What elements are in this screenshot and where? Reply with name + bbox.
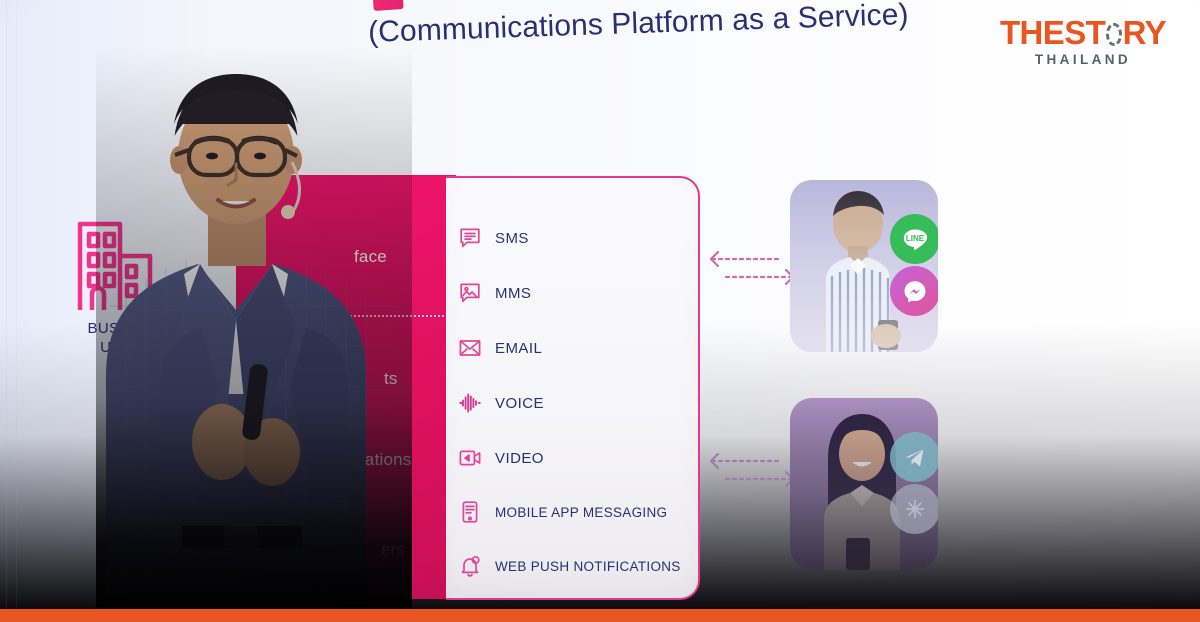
service-label: EMAIL [495,340,542,357]
service-channel-card: SMS MMS EMAIL VOICE [446,176,700,600]
service-row-mobile-app-messaging: MOBILE APP MESSAGING [458,500,667,524]
line-app-icon: LINE [890,214,938,264]
logo-text-left: THEST [1000,16,1105,49]
service-label: VOICE [495,395,544,412]
service-row-mms: MMS [458,281,531,305]
viber-app-icon [890,484,938,534]
voice-waveform-icon [458,391,482,415]
connector-top [706,242,798,294]
service-row-sms: SMS [458,226,529,250]
logo-wordmark: THEST RY [1000,16,1166,49]
web-push-bell-icon [458,554,482,578]
email-envelope-icon [458,336,482,360]
slide-title: (Communications Platform as a Service) [368,0,969,50]
messenger-app-icon [890,266,938,316]
sms-chat-icon [458,226,482,250]
service-row-web-push-notifications: WEB PUSH NOTIFICATIONS [458,554,681,578]
brand-bottom-bar [0,609,1200,622]
mobile-app-icon [458,500,482,524]
line-badge-label: LINE [906,234,925,243]
presenter-photo [96,46,412,612]
video-camera-icon [458,446,482,470]
service-row-voice: VOICE [458,391,544,415]
service-label: MMS [495,285,531,302]
service-row-video: VIDEO [458,446,544,470]
service-label: SMS [495,230,529,247]
telegram-app-icon [890,432,938,482]
service-label: MOBILE APP MESSAGING [495,505,667,520]
screenshot-stage: (Communications Platform as a Service) [0,0,1200,622]
service-label: VIDEO [495,450,544,467]
service-row-email: EMAIL [458,336,542,360]
dashed-circle-icon [1106,23,1121,46]
tile-woman-smartphone [790,398,938,570]
connector-bottom [706,444,798,496]
title-accent-mark [372,0,403,11]
tile-man-smartphone: LINE [790,180,938,352]
mms-image-chat-icon [458,281,482,305]
thestory-thailand-logo[interactable]: THEST RY THAILAND [1000,16,1166,67]
logo-subtitle: THAILAND [1000,52,1166,67]
logo-text-right: RY [1123,16,1166,49]
service-label: WEB PUSH NOTIFICATIONS [495,559,681,574]
